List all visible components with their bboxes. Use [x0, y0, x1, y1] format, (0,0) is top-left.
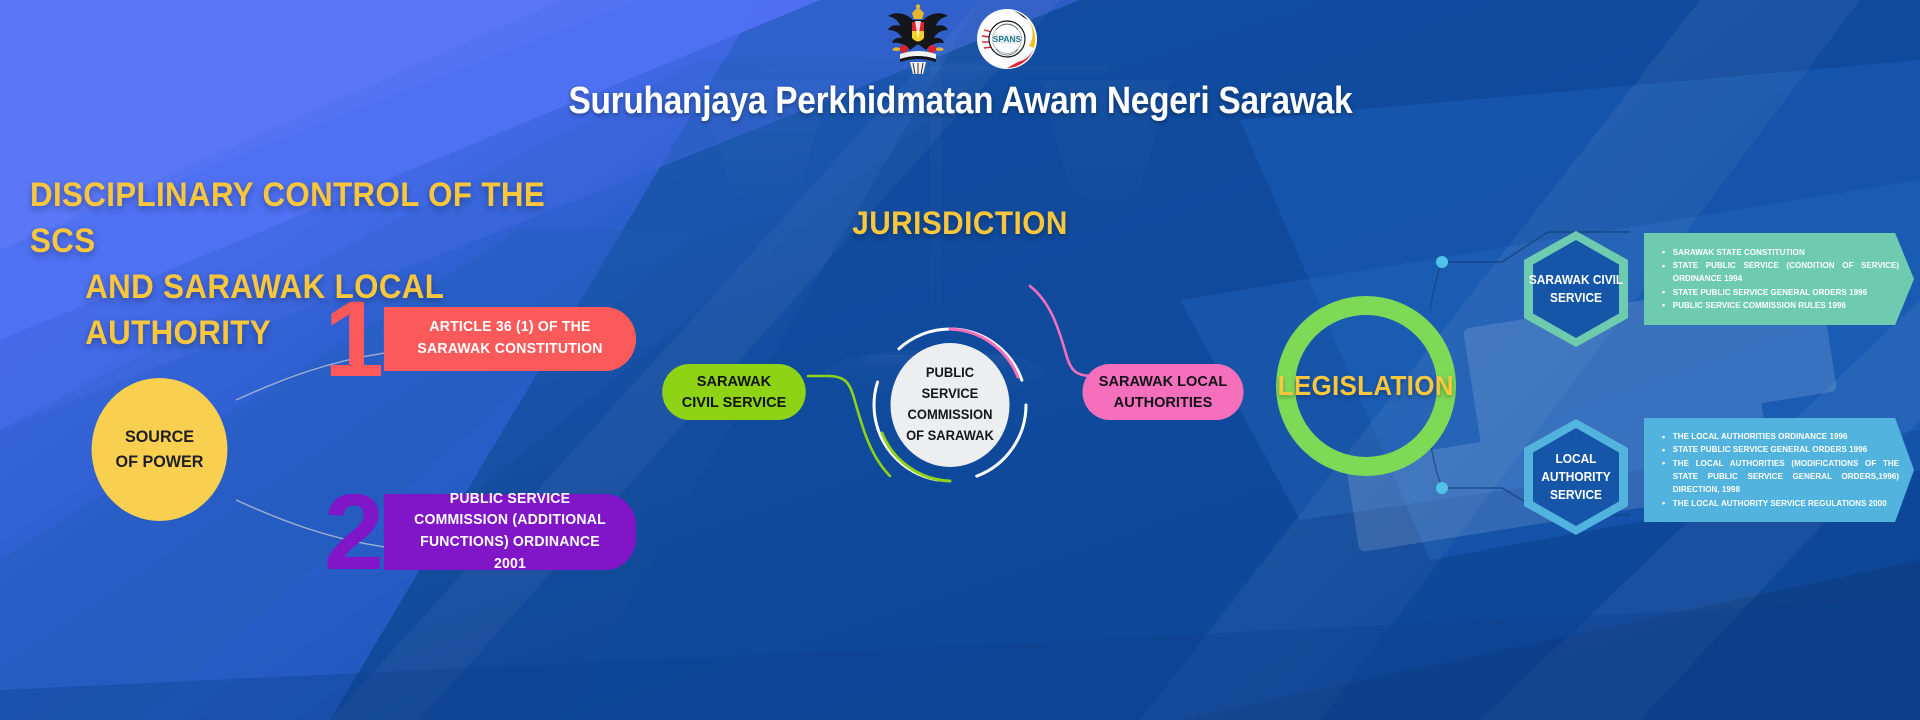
source-of-power-label-line1: SOURCE	[125, 425, 194, 450]
page-header: SPANS Suruhanjaya Perkhidmatan Awam Nege…	[0, 0, 1920, 140]
source-of-power-node[interactable]: SOURCE OF POWER	[92, 378, 228, 521]
list-item: PUBLIC SERVICE COMMISSION RULES 1996	[1662, 299, 1899, 312]
list-item: STATE PUBLIC SERVICE (CONDITION OF SERVI…	[1662, 259, 1899, 286]
sarawak-state-crest-icon	[882, 4, 954, 74]
legislation-node[interactable]: LEGISLATION	[1276, 296, 1456, 476]
hexagon-label-civil: SARAWAK CIVIL SERVICE	[1527, 271, 1626, 307]
jurisdiction-title: JURISDICTION	[848, 205, 1071, 242]
spans-logo-icon: SPANS	[976, 8, 1038, 70]
spans-logo-text: SPANS	[993, 34, 1022, 44]
hexagon-local-authority-service[interactable]: LOCAL AUTHORITY SERVICE	[1524, 419, 1628, 535]
hexagon-sarawak-civil-service[interactable]: SARAWAK CIVIL SERVICE	[1524, 231, 1628, 347]
list-item: THE LOCAL AUTHORITIES ORDINANCE 1996	[1662, 430, 1899, 443]
list-item: THE LOCAL AUTHORITIES (MODIFICATIONS OF …	[1662, 457, 1899, 497]
legislation-list-local-authority: THE LOCAL AUTHORITIES ORDINANCE 1996 STA…	[1644, 418, 1914, 522]
source-of-power-label-line2: OF POWER	[116, 450, 204, 475]
legislation-label: LEGISLATION	[1278, 370, 1454, 402]
source-card-2-text: PUBLIC SERVICE COMMISSION (ADDITIONAL FU…	[384, 494, 636, 570]
jurisdiction-node-local-authorities[interactable]: SARAWAK LOCAL AUTHORITIES	[1082, 364, 1243, 420]
legislation-list-civil-items: SARAWAK STATE CONSTITUTION STATE PUBLIC …	[1662, 246, 1904, 312]
jurisdiction-center-label: PUBLIC SERVICE COMMISSION OF SARAWAK	[890, 343, 1009, 467]
jurisdiction-node-civil-service[interactable]: SARAWAK CIVIL SERVICE	[662, 364, 806, 420]
page-title: DISCIPLINARY CONTROL OF THE SCS AND SARA…	[30, 173, 619, 357]
list-item: THE LOCAL AUTHORITY SERVICE REGULATIONS …	[1662, 497, 1899, 510]
source-card-2[interactable]: 2 PUBLIC SERVICE COMMISSION (ADDITIONAL …	[324, 494, 640, 570]
logo-row: SPANS	[882, 4, 1038, 74]
list-item: STATE PUBLIC SERVICE GENERAL ORDERS 1996	[1662, 443, 1899, 456]
hexagon-label-local: LOCAL AUTHORITY SERVICE	[1527, 450, 1626, 504]
infographic-canvas: SPANS Suruhanjaya Perkhidmatan Awam Nege…	[0, 0, 1920, 720]
source-card-2-number: 2	[324, 478, 384, 586]
list-item: SARAWAK STATE CONSTITUTION	[1662, 246, 1899, 259]
page-title-line1: DISCIPLINARY CONTROL OF THE SCS	[30, 176, 545, 260]
page-title-line2: AND SARAWAK LOCAL AUTHORITY	[30, 265, 619, 357]
list-item: STATE PUBLIC SERVICE GENERAL ORDERS 1996	[1662, 286, 1899, 299]
legislation-list-civil-service: SARAWAK STATE CONSTITUTION STATE PUBLIC …	[1644, 233, 1914, 325]
legislation-list-local-items: THE LOCAL AUTHORITIES ORDINANCE 1996 STA…	[1662, 430, 1904, 510]
org-title: Suruhanjaya Perkhidmatan Awam Negeri Sar…	[568, 80, 1352, 123]
jurisdiction-center-node[interactable]: PUBLIC SERVICE COMMISSION OF SARAWAK	[866, 321, 1034, 489]
